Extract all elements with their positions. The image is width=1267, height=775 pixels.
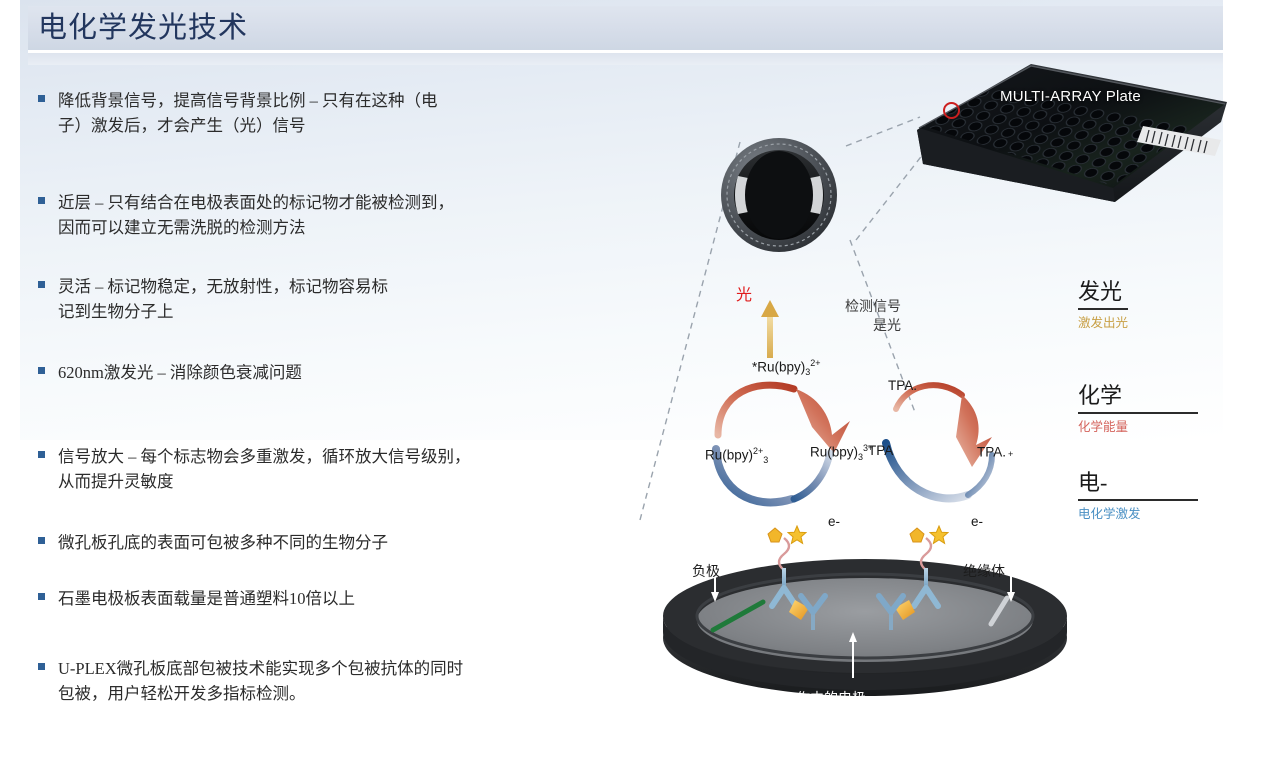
underline: [1078, 308, 1128, 310]
energy-step-title: 发光: [1078, 274, 1122, 307]
list-item-label: 620nm激发光 – 消除颜色衰减问题: [58, 360, 618, 385]
list-item-label: 近层 – 只有结合在电极表面处的标记物才能被检测到， 因而可以建立无需洗脱的检测…: [58, 190, 618, 240]
tpa-label: TPA: [868, 443, 893, 458]
energy-step-chemical: 化学 化学能量: [1078, 378, 1198, 435]
bullet-square-icon: [38, 95, 45, 102]
negative-electrode-label: 负极: [692, 561, 720, 581]
energy-step-subtitle: 化学能量: [1078, 416, 1198, 435]
tpa-radical-label-1: TPA.: [888, 378, 917, 393]
sulfo-tag-star-icon: [787, 525, 807, 545]
energy-step-subtitle: 电化学激发: [1078, 503, 1198, 522]
energy-step-title: 化学: [1078, 378, 1122, 411]
multi-array-plate-image: MULTI-ARRAY Plate: [905, 60, 1235, 260]
ru-3plus-label: Ru(bpy)33+: [810, 443, 873, 462]
list-item-label: 信号放大 – 每个标志物会多重激发，循环放大信号级别， 从而提升灵敏度: [58, 444, 618, 494]
energy-step-emission: 发光 激发出光: [1078, 274, 1128, 331]
page-title: 电化学发光技术: [38, 8, 678, 48]
ru-excited-label: *Ru(bpy)32+: [752, 358, 821, 377]
energy-step-electrical: 电- 电化学激发: [1078, 465, 1198, 522]
sulfo-tag-star-icon: [929, 525, 949, 545]
ru-2plus-label: Ru(bpy)2+3: [705, 446, 768, 465]
bullet-square-icon: [38, 663, 45, 670]
bullet-square-icon: [38, 367, 45, 374]
plate-label: MULTI-ARRAY Plate: [1000, 88, 1230, 105]
highlighted-well-icon: [943, 102, 960, 119]
light-label: 光: [736, 281, 752, 305]
tpa-radical-label-2: TPA.+: [977, 443, 1011, 460]
bullet-square-icon: [38, 593, 45, 600]
detection-signal-line2: 是光: [845, 317, 901, 336]
insulator-label: 绝缘体: [963, 561, 1005, 581]
bullet-square-icon: [38, 197, 45, 204]
magnified-well-image: [716, 134, 843, 256]
list-item-label: 灵活 – 标记物稳定，无放射性，标记物容易标 记到生物分子上: [58, 274, 618, 324]
detection-signal-label: 检测信号 是光: [845, 279, 901, 355]
slide-canvas: 电化学发光技术 降低背景信号，提高信号背景比例 – 只有在这种（电 子）激发后，…: [0, 0, 1267, 775]
underline: [1078, 499, 1198, 501]
detection-signal-line1: 检测信号: [845, 300, 901, 315]
working-electrode-illustration: [655, 520, 1075, 710]
list-item-label: 降低背景信号，提高信号背景比例 – 只有在这种（电 子）激发后，才会产生（光）信…: [58, 88, 618, 138]
working-electrode-label: 工作中的电极: [782, 688, 866, 708]
underline: [1078, 412, 1198, 414]
list-item-label: 石墨电极板表面载量是普通塑料10倍以上: [58, 586, 618, 611]
list-item-label: 微孔板孔底的表面可包被多种不同的生物分子: [58, 530, 618, 555]
bullet-square-icon: [38, 451, 45, 458]
light-emission-arrow-icon: [758, 300, 784, 360]
energy-step-subtitle: 激发出光: [1078, 312, 1128, 331]
bullet-square-icon: [38, 281, 45, 288]
list-item-label: U-PLEX微孔板底部包被技术能实现多个包被抗体的同时 包被，用户轻松开发多指标…: [58, 656, 618, 706]
bullet-square-icon: [38, 537, 45, 544]
energy-step-title: 电-: [1078, 465, 1107, 498]
